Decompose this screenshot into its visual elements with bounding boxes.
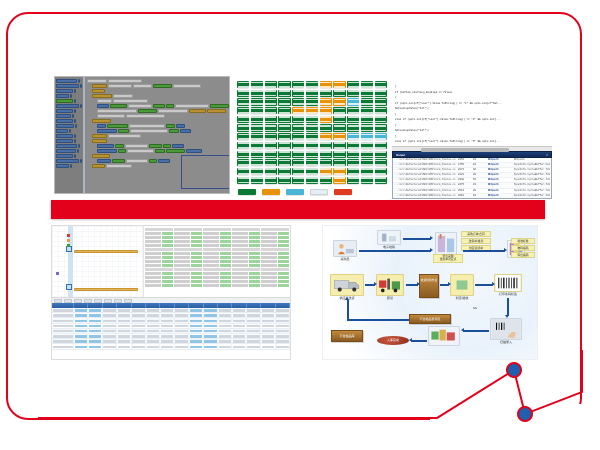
status-card[interactable] bbox=[292, 116, 304, 123]
table-cell[interactable] bbox=[74, 334, 88, 338]
table-cell[interactable] bbox=[88, 318, 102, 322]
palette-block[interactable] bbox=[56, 119, 82, 123]
table-cell[interactable] bbox=[160, 344, 174, 348]
table-cell[interactable] bbox=[276, 329, 290, 333]
status-card[interactable] bbox=[347, 107, 359, 114]
status-card[interactable] bbox=[306, 168, 318, 175]
table-cell[interactable] bbox=[204, 313, 218, 317]
table-cell[interactable] bbox=[160, 334, 174, 338]
status-card[interactable] bbox=[251, 116, 263, 123]
canvas-block-row[interactable] bbox=[92, 119, 230, 123]
block-chip[interactable] bbox=[186, 149, 201, 153]
canvas-block-row[interactable] bbox=[97, 114, 230, 118]
cell-row[interactable] bbox=[232, 280, 260, 283]
status-card[interactable] bbox=[292, 98, 304, 105]
status-card[interactable] bbox=[278, 142, 290, 149]
status-card[interactable] bbox=[292, 133, 304, 140]
flow-node-inspection[interactable]: 收货检验作业 bbox=[419, 274, 439, 298]
status-card[interactable] bbox=[361, 159, 373, 166]
cell-row[interactable] bbox=[174, 280, 202, 283]
flow-node-complete[interactable]: 入库完成 bbox=[377, 336, 409, 345]
block-chip[interactable] bbox=[92, 164, 105, 168]
block-chip[interactable] bbox=[126, 159, 148, 163]
table-cell[interactable] bbox=[175, 308, 189, 312]
block-chip[interactable] bbox=[92, 154, 110, 158]
table-cell[interactable] bbox=[232, 318, 246, 322]
table-cell[interactable] bbox=[74, 308, 88, 312]
palette-block[interactable] bbox=[56, 124, 82, 128]
canvas-block-row[interactable] bbox=[97, 144, 230, 148]
cell-row[interactable] bbox=[203, 260, 231, 263]
block-chip[interactable] bbox=[56, 124, 74, 128]
status-card[interactable] bbox=[237, 142, 249, 149]
table-cell[interactable] bbox=[247, 324, 261, 328]
cell-value[interactable] bbox=[162, 284, 173, 287]
flow-node-unload[interactable]: 卸货 bbox=[375, 274, 405, 300]
status-card[interactable] bbox=[333, 81, 345, 88]
table-cell[interactable] bbox=[132, 308, 146, 312]
palette-block[interactable] bbox=[56, 164, 82, 168]
status-card[interactable] bbox=[375, 107, 387, 114]
status-card[interactable] bbox=[320, 98, 332, 105]
status-card[interactable] bbox=[292, 151, 304, 158]
status-card[interactable] bbox=[278, 159, 290, 166]
table-cell[interactable] bbox=[52, 339, 74, 343]
cell-row[interactable] bbox=[145, 232, 173, 235]
status-card[interactable] bbox=[278, 81, 290, 88]
status-card[interactable] bbox=[375, 133, 387, 140]
block-chip[interactable] bbox=[129, 124, 165, 128]
block-chip[interactable] bbox=[155, 149, 165, 153]
status-card[interactable] bbox=[347, 177, 359, 184]
table-cell[interactable] bbox=[52, 334, 74, 338]
spreadsheet-cell-block[interactable] bbox=[174, 248, 202, 267]
table-cell[interactable] bbox=[146, 324, 160, 328]
status-card[interactable] bbox=[320, 159, 332, 166]
cell-value[interactable] bbox=[220, 280, 231, 283]
table-cell[interactable] bbox=[160, 324, 174, 328]
status-card[interactable] bbox=[361, 98, 373, 105]
table-cell[interactable] bbox=[204, 344, 218, 348]
status-card[interactable] bbox=[361, 90, 373, 97]
spreadsheet-cell-block[interactable] bbox=[203, 268, 231, 287]
cell-value[interactable] bbox=[278, 280, 289, 283]
table-cell[interactable] bbox=[189, 324, 203, 328]
cell-row[interactable] bbox=[174, 272, 202, 275]
code-editor-area[interactable]: { if (bottom_starting_Enabled == false) … bbox=[392, 80, 552, 146]
table-cell[interactable] bbox=[103, 339, 117, 343]
status-card[interactable] bbox=[237, 107, 249, 114]
table-cell[interactable] bbox=[103, 329, 117, 333]
flow-node-reject-zone[interactable]: 不合格品暂存区 bbox=[409, 314, 451, 324]
table-cell[interactable] bbox=[247, 329, 261, 333]
status-card[interactable] bbox=[375, 124, 387, 131]
cell-row[interactable] bbox=[232, 252, 260, 255]
cell-value[interactable] bbox=[162, 244, 173, 247]
palette-block[interactable] bbox=[56, 139, 82, 143]
table-cell[interactable] bbox=[276, 308, 290, 312]
block-chip[interactable] bbox=[176, 124, 185, 128]
status-card[interactable] bbox=[320, 90, 332, 97]
output-log-list[interactable]: ...\src\Refactored\MES\SPR\Form_Status.c… bbox=[392, 158, 552, 199]
block-chip[interactable] bbox=[56, 119, 73, 123]
block-chip[interactable] bbox=[92, 134, 107, 138]
status-card[interactable] bbox=[347, 142, 359, 149]
status-card[interactable] bbox=[306, 116, 318, 123]
status-card[interactable] bbox=[320, 168, 332, 175]
status-card[interactable] bbox=[251, 98, 263, 105]
blocks-palette[interactable] bbox=[55, 77, 85, 193]
status-card[interactable] bbox=[347, 124, 359, 131]
block-chip[interactable] bbox=[56, 89, 73, 93]
table-cell[interactable] bbox=[160, 329, 174, 333]
toolbar-button[interactable] bbox=[54, 299, 62, 303]
block-chip[interactable] bbox=[56, 114, 71, 118]
table-cell[interactable] bbox=[232, 313, 246, 317]
table-cell[interactable] bbox=[232, 308, 246, 312]
status-card-grid[interactable] bbox=[236, 80, 388, 185]
table-cell[interactable] bbox=[218, 313, 232, 317]
status-card[interactable] bbox=[375, 177, 387, 184]
cell-value[interactable] bbox=[278, 252, 289, 255]
table-cell[interactable] bbox=[261, 324, 275, 328]
table-cell[interactable] bbox=[103, 318, 117, 322]
table-cell[interactable] bbox=[146, 334, 160, 338]
table-cell[interactable] bbox=[204, 339, 218, 343]
table-cell[interactable] bbox=[204, 308, 218, 312]
block-chip[interactable] bbox=[149, 159, 157, 163]
block-chip[interactable] bbox=[169, 129, 179, 133]
spreadsheet-cell-block[interactable] bbox=[232, 268, 260, 287]
status-card[interactable] bbox=[347, 168, 359, 175]
cell-row[interactable] bbox=[232, 236, 260, 239]
table-cell[interactable] bbox=[276, 318, 290, 322]
table-cell[interactable] bbox=[132, 334, 146, 338]
cell-value[interactable] bbox=[191, 276, 202, 279]
status-card[interactable] bbox=[347, 90, 359, 97]
palette-block[interactable] bbox=[56, 149, 82, 153]
flow-node-qc[interactable]: 判定/验收 bbox=[449, 274, 475, 300]
table-cell[interactable] bbox=[189, 339, 203, 343]
status-card[interactable] bbox=[333, 177, 345, 184]
canvas-block-row[interactable] bbox=[97, 99, 230, 103]
cell-value[interactable] bbox=[278, 236, 289, 239]
status-card[interactable] bbox=[237, 90, 249, 97]
table-cell[interactable] bbox=[276, 334, 290, 338]
palette-block[interactable] bbox=[56, 104, 82, 108]
status-card[interactable] bbox=[265, 168, 277, 175]
status-card[interactable] bbox=[278, 124, 290, 131]
status-card[interactable] bbox=[361, 116, 373, 123]
block-chip[interactable] bbox=[56, 139, 73, 143]
cell-value[interactable] bbox=[162, 272, 173, 275]
status-card[interactable] bbox=[306, 142, 318, 149]
status-card[interactable] bbox=[265, 90, 277, 97]
status-card[interactable] bbox=[347, 116, 359, 123]
toolbar-button[interactable] bbox=[124, 299, 132, 303]
status-card[interactable] bbox=[347, 151, 359, 158]
status-card[interactable] bbox=[237, 116, 249, 123]
cell-value[interactable] bbox=[278, 276, 289, 279]
cell-row[interactable] bbox=[203, 244, 231, 247]
cell-value[interactable] bbox=[278, 240, 289, 243]
canvas-block-row[interactable] bbox=[87, 79, 230, 83]
status-card[interactable] bbox=[347, 81, 359, 88]
cell-value[interactable] bbox=[278, 256, 289, 259]
cell-row[interactable] bbox=[232, 264, 260, 267]
table-cell[interactable] bbox=[103, 324, 117, 328]
status-card[interactable] bbox=[361, 133, 373, 140]
block-chip[interactable] bbox=[97, 99, 112, 103]
block-chip[interactable] bbox=[97, 149, 117, 153]
table-cell[interactable] bbox=[175, 339, 189, 343]
status-card[interactable] bbox=[333, 98, 345, 105]
table-cell[interactable] bbox=[175, 329, 189, 333]
status-card[interactable] bbox=[320, 116, 332, 123]
table-cell[interactable] bbox=[261, 339, 275, 343]
status-card[interactable] bbox=[237, 124, 249, 131]
block-chip[interactable] bbox=[127, 149, 154, 153]
status-card[interactable] bbox=[265, 159, 277, 166]
cell-row[interactable] bbox=[145, 240, 173, 243]
block-chip[interactable] bbox=[56, 94, 69, 98]
status-card[interactable] bbox=[306, 107, 318, 114]
table-cell[interactable] bbox=[103, 313, 117, 317]
cell-row[interactable] bbox=[232, 260, 260, 263]
flow-node-scan[interactable]: 扫描录入 bbox=[489, 318, 523, 344]
status-card[interactable] bbox=[278, 151, 290, 158]
spreadsheet-cell-block[interactable] bbox=[261, 268, 289, 287]
cell-row[interactable] bbox=[174, 260, 202, 263]
table-cell[interactable] bbox=[247, 308, 261, 312]
block-chip[interactable] bbox=[149, 144, 162, 148]
gantt-bar[interactable] bbox=[74, 250, 138, 253]
block-chip[interactable] bbox=[56, 129, 68, 133]
status-card[interactable] bbox=[375, 98, 387, 105]
palette-block[interactable] bbox=[56, 84, 82, 88]
cell-value[interactable] bbox=[162, 232, 173, 235]
cell-row[interactable] bbox=[145, 256, 173, 259]
status-card[interactable] bbox=[375, 81, 387, 88]
table-cell[interactable] bbox=[247, 318, 261, 322]
cell-row[interactable] bbox=[261, 260, 289, 263]
status-card[interactable] bbox=[265, 151, 277, 158]
table-cell[interactable] bbox=[218, 344, 232, 348]
cell-value[interactable] bbox=[249, 256, 260, 259]
block-chip[interactable] bbox=[56, 104, 79, 108]
block-chip[interactable] bbox=[163, 144, 172, 148]
block-chip[interactable] bbox=[108, 134, 141, 138]
table-cell[interactable] bbox=[88, 334, 102, 338]
cell-row[interactable] bbox=[145, 272, 173, 275]
cell-value[interactable] bbox=[191, 264, 202, 267]
block-chip[interactable] bbox=[56, 164, 69, 168]
table-cell[interactable] bbox=[218, 339, 232, 343]
palette-block[interactable] bbox=[56, 79, 82, 83]
cell-value[interactable] bbox=[162, 256, 173, 259]
block-chip[interactable] bbox=[128, 104, 153, 108]
cell-value[interactable] bbox=[249, 264, 260, 267]
toolbar-button[interactable] bbox=[74, 299, 82, 303]
table-cell[interactable] bbox=[247, 344, 261, 348]
cell-value[interactable] bbox=[249, 240, 260, 243]
cell-row[interactable] bbox=[203, 236, 231, 239]
status-card[interactable] bbox=[292, 107, 304, 114]
cell-value[interactable] bbox=[162, 252, 173, 255]
status-card[interactable] bbox=[292, 90, 304, 97]
cell-value[interactable] bbox=[220, 264, 231, 267]
block-chip[interactable] bbox=[56, 159, 79, 163]
block-chip[interactable] bbox=[166, 104, 174, 108]
block-chip[interactable] bbox=[56, 84, 79, 88]
block-chip[interactable] bbox=[118, 149, 127, 153]
status-card[interactable] bbox=[320, 124, 332, 131]
table-cell[interactable] bbox=[117, 339, 131, 343]
panel-spreadsheet[interactable] bbox=[51, 225, 291, 360]
block-chip[interactable] bbox=[97, 104, 109, 108]
status-card[interactable] bbox=[375, 159, 387, 166]
cell-value[interactable] bbox=[220, 260, 231, 263]
cell-row[interactable] bbox=[232, 284, 260, 287]
status-card[interactable] bbox=[361, 177, 373, 184]
table-cell[interactable] bbox=[74, 344, 88, 348]
block-chip[interactable] bbox=[56, 99, 73, 103]
block-chip[interactable] bbox=[92, 89, 105, 93]
table-cell[interactable] bbox=[88, 308, 102, 312]
cell-row[interactable] bbox=[261, 280, 289, 283]
table-cell[interactable] bbox=[160, 339, 174, 343]
canvas-block-row[interactable] bbox=[97, 149, 230, 153]
cell-row[interactable] bbox=[174, 256, 202, 259]
palette-block[interactable] bbox=[56, 89, 82, 93]
palette-block[interactable] bbox=[56, 144, 82, 148]
block-chip[interactable] bbox=[56, 79, 77, 83]
cell-row[interactable] bbox=[203, 272, 231, 275]
scrollbar-thumb[interactable] bbox=[421, 148, 509, 152]
cell-value[interactable] bbox=[220, 284, 231, 287]
table-cell[interactable] bbox=[204, 334, 218, 338]
cell-row[interactable] bbox=[203, 280, 231, 283]
status-card[interactable] bbox=[292, 81, 304, 88]
spreadsheet-cell-block[interactable] bbox=[261, 248, 289, 267]
block-chip[interactable] bbox=[108, 79, 143, 83]
cell-value[interactable] bbox=[249, 232, 260, 235]
palette-block[interactable] bbox=[56, 94, 82, 98]
status-card[interactable] bbox=[333, 151, 345, 158]
status-card[interactable] bbox=[278, 90, 290, 97]
status-card[interactable] bbox=[361, 151, 373, 158]
block-chip[interactable] bbox=[180, 129, 192, 133]
status-card[interactable] bbox=[265, 116, 277, 123]
status-card[interactable] bbox=[251, 107, 263, 114]
table-cell[interactable] bbox=[88, 324, 102, 328]
toolbar-button[interactable] bbox=[84, 299, 92, 303]
spreadsheet-cell-blocks[interactable] bbox=[144, 226, 290, 297]
cell-row[interactable] bbox=[145, 244, 173, 247]
table-cell[interactable] bbox=[218, 324, 232, 328]
cell-row[interactable] bbox=[174, 276, 202, 279]
table-cell[interactable] bbox=[261, 313, 275, 317]
status-card[interactable] bbox=[306, 124, 318, 131]
table-cell[interactable] bbox=[189, 308, 203, 312]
status-card[interactable] bbox=[251, 177, 263, 184]
status-card[interactable] bbox=[306, 98, 318, 105]
table-cell[interactable] bbox=[232, 334, 246, 338]
palette-block[interactable] bbox=[56, 159, 82, 163]
status-card[interactable] bbox=[237, 177, 249, 184]
block-chip[interactable] bbox=[153, 84, 172, 88]
table-cell[interactable] bbox=[261, 334, 275, 338]
cell-row[interactable] bbox=[261, 252, 289, 255]
table-cell[interactable] bbox=[261, 308, 275, 312]
table-cell[interactable] bbox=[232, 344, 246, 348]
table-cell[interactable] bbox=[160, 318, 174, 322]
cell-value[interactable] bbox=[191, 240, 202, 243]
status-card[interactable] bbox=[278, 177, 290, 184]
table-cell[interactable] bbox=[175, 318, 189, 322]
status-card[interactable] bbox=[292, 177, 304, 184]
cell-row[interactable] bbox=[174, 232, 202, 235]
cell-row[interactable] bbox=[232, 232, 260, 235]
canvas-block-row[interactable] bbox=[92, 134, 230, 138]
table-cell[interactable] bbox=[117, 318, 131, 322]
cell-row[interactable] bbox=[145, 276, 173, 279]
cell-value[interactable] bbox=[220, 240, 231, 243]
status-card[interactable] bbox=[278, 98, 290, 105]
table-cell[interactable] bbox=[218, 308, 232, 312]
spreadsheet-cell-block[interactable] bbox=[145, 268, 173, 287]
table-cell[interactable] bbox=[175, 313, 189, 317]
table-cell[interactable] bbox=[160, 308, 174, 312]
panel-code-ide[interactable]: { if (bottom_starting_Enabled == false) … bbox=[392, 80, 552, 200]
block-chip[interactable] bbox=[92, 139, 107, 143]
status-card[interactable] bbox=[251, 81, 263, 88]
block-chip[interactable] bbox=[166, 124, 175, 128]
status-card[interactable] bbox=[306, 81, 318, 88]
table-cell[interactable] bbox=[132, 324, 146, 328]
status-card[interactable] bbox=[333, 168, 345, 175]
spreadsheet-cell-block[interactable] bbox=[145, 248, 173, 267]
cell-value[interactable] bbox=[220, 244, 231, 247]
cell-row[interactable] bbox=[203, 276, 231, 279]
cell-row[interactable] bbox=[174, 240, 202, 243]
status-card[interactable] bbox=[251, 159, 263, 166]
status-card[interactable] bbox=[306, 151, 318, 158]
table-cell[interactable] bbox=[88, 329, 102, 333]
table-cell[interactable] bbox=[261, 344, 275, 348]
status-card[interactable] bbox=[265, 107, 277, 114]
table-cell[interactable] bbox=[146, 329, 160, 333]
cell-row[interactable] bbox=[145, 284, 173, 287]
status-card[interactable] bbox=[292, 142, 304, 149]
status-card[interactable] bbox=[237, 81, 249, 88]
block-chip[interactable] bbox=[158, 109, 188, 113]
cell-value[interactable] bbox=[162, 236, 173, 239]
cell-value[interactable] bbox=[278, 272, 289, 275]
status-card[interactable] bbox=[306, 133, 318, 140]
panel-status-grid[interactable] bbox=[236, 80, 388, 200]
block-chip[interactable] bbox=[56, 154, 73, 158]
toolbar-button[interactable] bbox=[114, 299, 122, 303]
cell-row[interactable] bbox=[203, 256, 231, 259]
cell-value[interactable] bbox=[220, 252, 231, 255]
table-cell[interactable] bbox=[276, 339, 290, 343]
flow-node-scale[interactable]: 电子地磅 bbox=[375, 230, 403, 249]
cell-value[interactable] bbox=[249, 280, 260, 283]
cell-row[interactable] bbox=[145, 236, 173, 239]
cell-row[interactable] bbox=[261, 244, 289, 247]
cell-row[interactable] bbox=[145, 252, 173, 255]
